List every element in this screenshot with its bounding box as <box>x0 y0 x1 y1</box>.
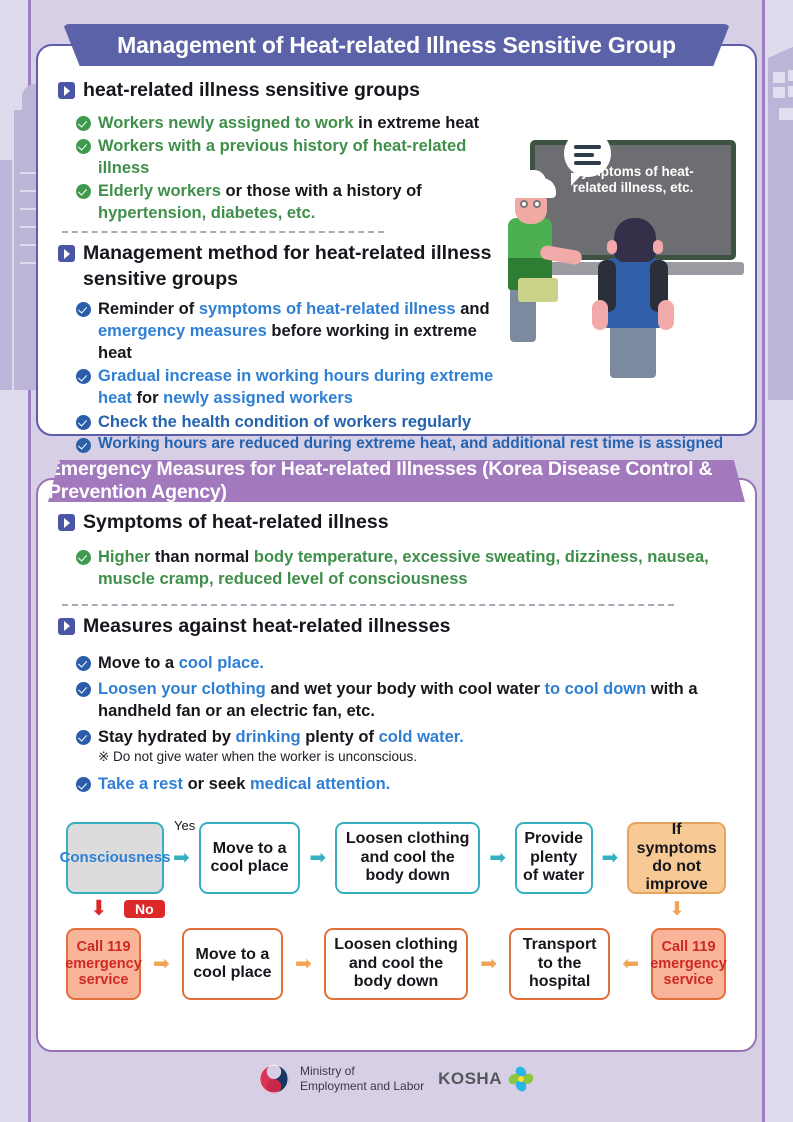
list-item: Take a rest or seek medical attention. <box>76 773 738 795</box>
list-item: Check the health condition of workers re… <box>76 411 736 433</box>
arrow-marker-icon <box>58 82 75 99</box>
list-item: Working hours are reduced during extreme… <box>76 434 736 455</box>
speech-bubble-icon <box>564 130 611 177</box>
flow-box-move-cool-2[interactable]: Move to a cool place <box>182 928 283 1000</box>
heading-text: Measures against heat-related illnesses <box>83 614 450 640</box>
check-icon <box>76 682 91 697</box>
emergency-flowchart: Consciousness Yes ➡ Move to a cool place… <box>66 822 726 1000</box>
arrow-right-icon: ➡ <box>489 848 506 868</box>
arrow-right-icon: ➡ <box>153 954 170 974</box>
arrow-down-icon: ⬇ <box>90 896 108 921</box>
arrow-marker-icon <box>58 245 75 262</box>
panel1: heat-related illness sensitive groups Wo… <box>36 44 757 436</box>
heading-text: Symptoms of heat-related illness <box>83 510 389 536</box>
check-icon <box>76 730 91 745</box>
panel1-heading-1: heat-related illness sensitive groups <box>58 78 528 104</box>
arrow-down-icon: ⬇ <box>669 898 685 921</box>
ministry-line-2: Employment and Labor <box>300 1079 424 1094</box>
water-note: ※ Do not give water when the worker is u… <box>98 749 738 765</box>
flow-box-loosen[interactable]: Loosen clothing and cool the body down <box>335 822 480 894</box>
flow-row-1: Consciousness Yes ➡ Move to a cool place… <box>66 822 726 894</box>
taegeuk-icon <box>257 1062 291 1096</box>
flow-row-2: Call 119 emergency service ➡ Move to a c… <box>66 928 726 1000</box>
arrow-right-icon: ➡ <box>309 848 326 868</box>
arrow-right-icon: ➡ <box>173 848 190 868</box>
sensitive-group-list: Workers newly assigned to work in extrem… <box>76 112 528 225</box>
kosha-logo-group: KOSHA <box>438 1064 536 1094</box>
left-background-strip <box>0 0 31 1122</box>
footer: Ministry of Employment and Labor KOSHA <box>0 1062 793 1096</box>
arrow-left-icon: ⬅ <box>622 954 639 974</box>
check-icon <box>76 550 91 565</box>
symptom-list: Higher than normal body temperature, exc… <box>76 546 738 590</box>
panel2-banner: Emergency Measures for Heat-related Illn… <box>48 460 745 502</box>
check-icon <box>76 438 91 453</box>
no-badge: No <box>124 900 165 918</box>
arrow-marker-icon <box>58 514 75 531</box>
list-item: Higher than normal body temperature, exc… <box>76 546 738 590</box>
arrow-right-icon: ➡ <box>295 954 312 974</box>
list-item: Elderly workers or those with a history … <box>76 180 528 224</box>
divider <box>62 231 384 233</box>
classroom-illustration: Symptoms of heat-related illness, etc. <box>500 122 740 377</box>
arrow-right-icon: ➡ <box>602 848 619 868</box>
flow-box-provide-water[interactable]: Provide plenty of water <box>515 822 593 894</box>
flow-box-transport[interactable]: Transport to the hospital <box>509 928 610 1000</box>
flow-box-move-cool[interactable]: Move to a cool place <box>199 822 301 894</box>
panel1-heading-2: Management method for heat-related illne… <box>58 241 528 292</box>
check-icon <box>76 415 91 430</box>
heading-text: Management method for heat-related illne… <box>83 241 495 292</box>
kosha-mark-icon <box>506 1064 536 1094</box>
ministry-label: Ministry of Employment and Labor <box>300 1064 424 1093</box>
heading-text: heat-related illness sensitive groups <box>83 78 420 104</box>
check-icon <box>76 139 91 154</box>
arrow-right-icon: ➡ <box>480 954 497 974</box>
yes-label: Yes <box>174 818 195 833</box>
panel2-heading-1: Symptoms of heat-related illness <box>58 510 738 536</box>
check-icon <box>76 184 91 199</box>
flow-connectors: ⬇ No ⬇ <box>66 894 726 928</box>
flow-box-loosen-2[interactable]: Loosen clothing and cool the body down <box>324 928 468 1000</box>
ministry-logo-group: Ministry of Employment and Labor <box>257 1062 424 1096</box>
list-item: Loosen your clothing and wet your body w… <box>76 678 738 722</box>
divider <box>62 604 674 606</box>
flow-box-call119-left[interactable]: Call 119 emergency service <box>66 928 141 1000</box>
right-background-strip <box>762 0 793 1122</box>
panel2-heading-2: Measures against heat-related illnesses <box>58 614 738 640</box>
infographic-page: Management of Heat-related Illness Sensi… <box>0 0 793 1122</box>
check-icon <box>76 369 91 384</box>
flow-box-call119-right[interactable]: Call 119 emergency service <box>651 928 726 1000</box>
panel1-banner: Management of Heat-related Illness Sensi… <box>63 24 730 66</box>
flow-box-no-improve[interactable]: If symptoms do not improve <box>627 822 726 894</box>
ministry-line-1: Ministry of <box>300 1064 424 1079</box>
measures-list: Move to a cool place. Loosen your clothi… <box>76 652 738 796</box>
list-item: Move to a cool place. <box>76 652 738 674</box>
list-item: Workers with a previous history of heat-… <box>76 135 528 179</box>
check-icon <box>76 116 91 131</box>
list-item: Stay hydrated by drinking plenty of cold… <box>76 726 738 748</box>
check-icon <box>76 656 91 671</box>
kosha-label: KOSHA <box>438 1069 502 1089</box>
arrow-marker-icon <box>58 618 75 635</box>
check-icon <box>76 777 91 792</box>
flow-box-consciousness[interactable]: Consciousness <box>66 822 164 894</box>
list-item: Workers newly assigned to work in extrem… <box>76 112 528 134</box>
check-icon <box>76 302 91 317</box>
